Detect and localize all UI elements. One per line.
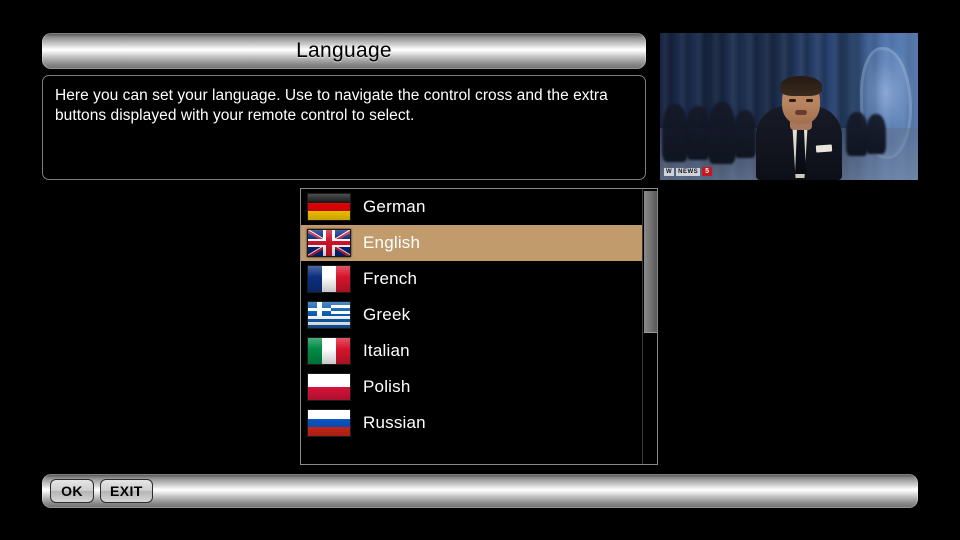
ok-button[interactable]: OK xyxy=(50,479,94,503)
france-flag-icon xyxy=(307,265,351,293)
preview-reporter-mouth xyxy=(795,110,807,115)
page-title-bar: Language xyxy=(42,33,646,69)
channel-logo-part3: 5 xyxy=(702,167,712,176)
list-scrollbar-track[interactable] xyxy=(642,189,657,464)
language-list-item-german[interactable]: German xyxy=(301,189,643,225)
preview-crowd-figure xyxy=(662,104,688,162)
preview-reporter-hair xyxy=(780,76,822,96)
poland-flag-icon xyxy=(307,373,351,401)
language-label: English xyxy=(363,233,420,253)
language-list-item-russian[interactable]: Russian xyxy=(301,405,643,441)
germany-flag-icon xyxy=(307,193,351,221)
preview-reporter-eye xyxy=(789,99,796,102)
united-kingdom-flag-icon xyxy=(307,229,351,257)
language-list-item-greek[interactable]: Greek xyxy=(301,297,643,333)
preview-crowd-figure xyxy=(846,112,868,156)
tv-settings-screen: Language Here you can set your language.… xyxy=(0,0,960,540)
footer-softkey-bar: OKEXIT xyxy=(42,474,918,508)
preview-reporter-eye xyxy=(806,99,813,102)
language-list: GermanEnglishFrenchGreekItalianPolishRus… xyxy=(301,189,643,441)
language-list-item-english[interactable]: English xyxy=(301,225,643,261)
preview-crowd-figure xyxy=(866,114,886,154)
greece-flag-icon xyxy=(307,301,351,329)
language-label: Polish xyxy=(363,377,411,397)
language-list-item-french[interactable]: French xyxy=(301,261,643,297)
italy-flag-icon xyxy=(307,337,351,365)
channel-logo-part1: W xyxy=(664,168,674,176)
language-label: Russian xyxy=(363,413,426,433)
language-list-panel[interactable]: GermanEnglishFrenchGreekItalianPolishRus… xyxy=(300,188,658,465)
description-box: Here you can set your language. Use to n… xyxy=(42,75,646,180)
language-label: German xyxy=(363,197,426,217)
preview-pocket-square xyxy=(816,144,832,152)
channel-logo-watermark: W NEWS 5 xyxy=(664,167,712,176)
description-text: Here you can set your language. Use to n… xyxy=(55,86,633,127)
preview-crowd-figure xyxy=(708,102,736,164)
live-tv-preview[interactable]: W NEWS 5 xyxy=(660,33,918,180)
list-scrollbar-thumb[interactable] xyxy=(644,191,657,333)
exit-button[interactable]: EXIT xyxy=(100,479,153,503)
language-label: French xyxy=(363,269,417,289)
page-title: Language xyxy=(296,39,392,63)
language-list-item-italian[interactable]: Italian xyxy=(301,333,643,369)
language-list-item-polish[interactable]: Polish xyxy=(301,369,643,405)
preview-crowd-figure xyxy=(734,110,756,158)
preview-crowd-figure xyxy=(686,106,710,160)
language-label: Italian xyxy=(363,341,410,361)
language-label: Greek xyxy=(363,305,410,325)
russia-flag-icon xyxy=(307,409,351,437)
channel-logo-part2: NEWS xyxy=(676,168,700,176)
